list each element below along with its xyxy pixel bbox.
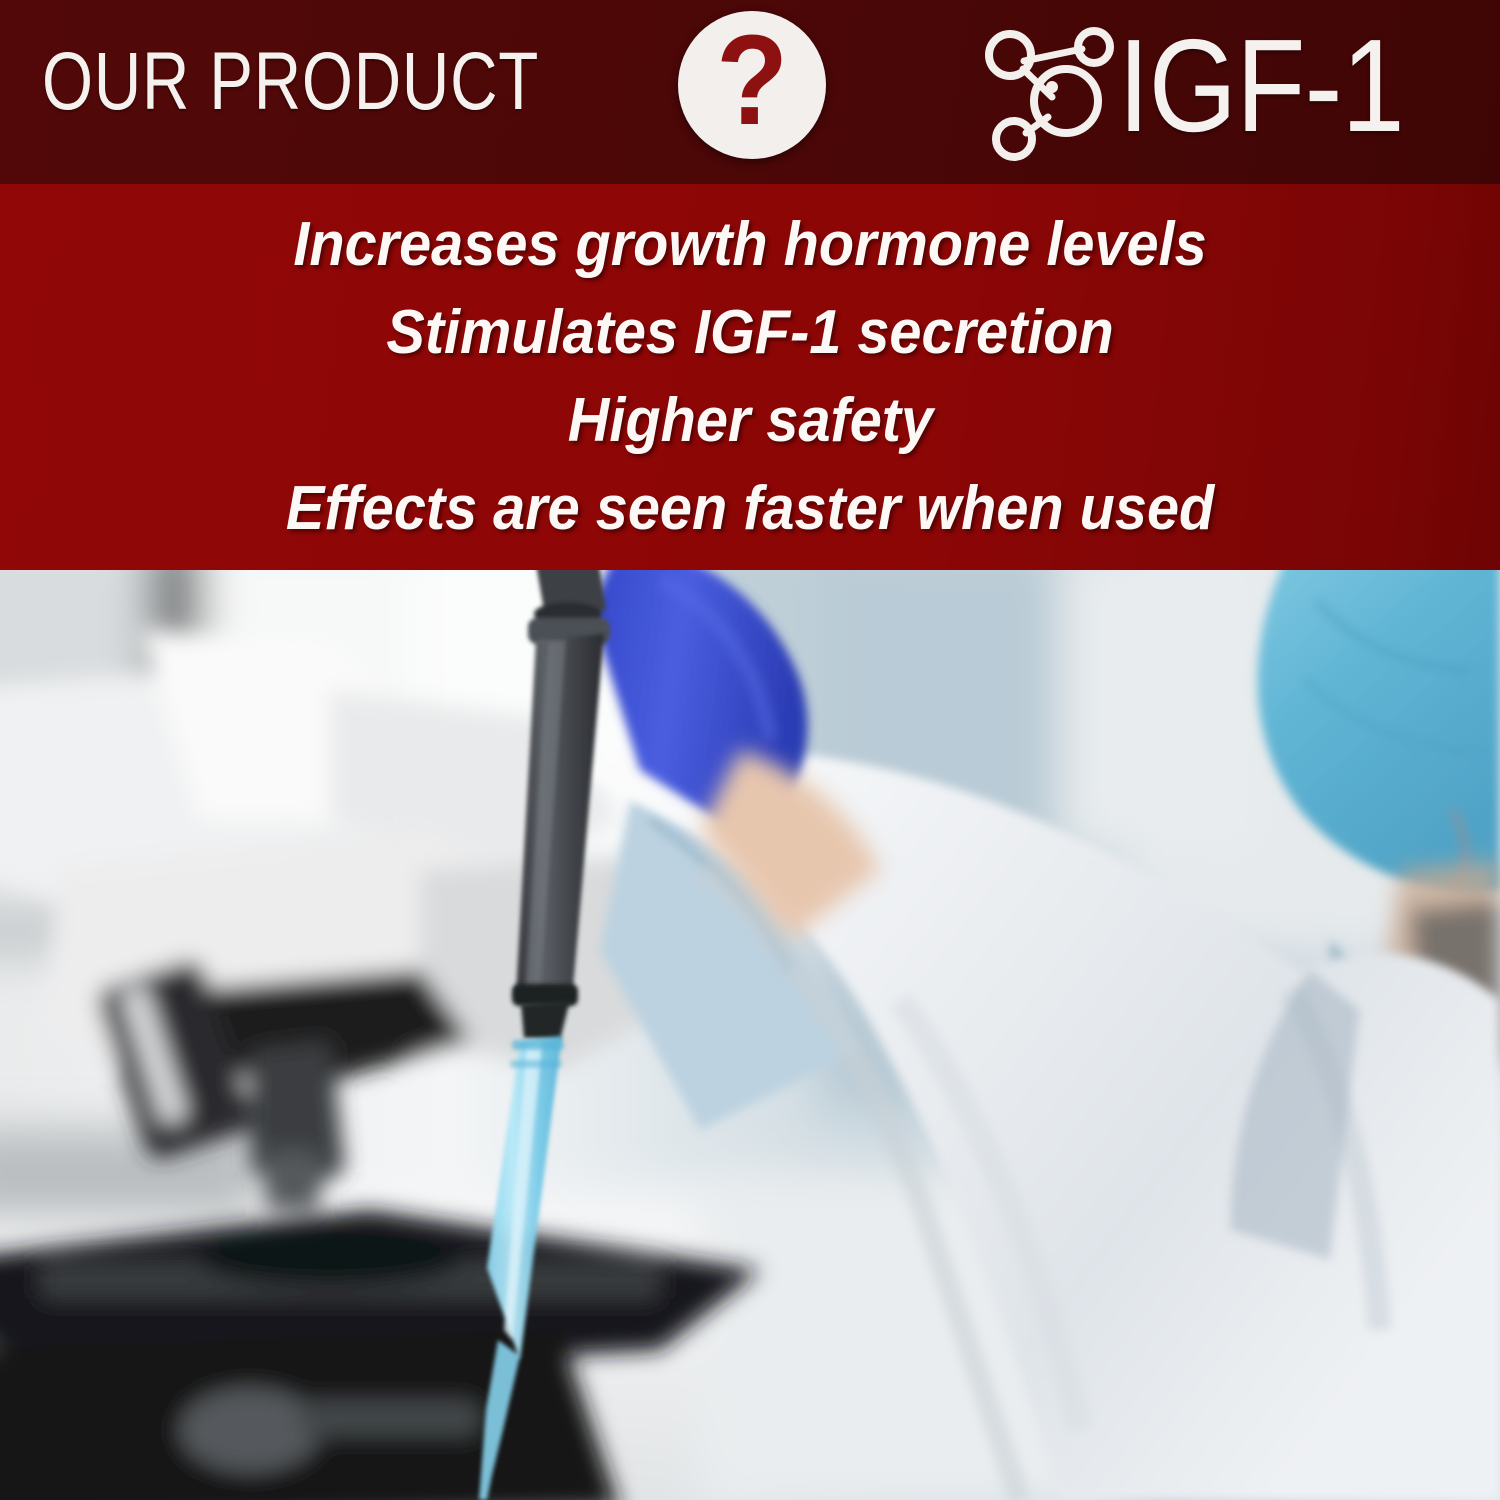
product-poster: OUR PRODUCT ? IGF-1 In (0, 0, 1500, 1500)
question-mark-glyph: ? (716, 17, 788, 145)
claim-line: Effects are seen faster when used (286, 465, 1214, 553)
claim-line: Higher safety (567, 377, 932, 465)
header-band: OUR PRODUCT ? IGF-1 (0, 0, 1500, 184)
laboratory-photo (0, 570, 1500, 1500)
product-label: IGF-1 (1118, 13, 1404, 159)
claims-band: Increases growth hormone levels Stimulat… (0, 184, 1500, 570)
molecule-icon (978, 17, 1124, 163)
claim-line: Stimulates IGF-1 secretion (386, 289, 1113, 377)
question-mark-icon: ? (678, 11, 826, 159)
claim-line: Increases growth hormone levels (293, 201, 1206, 289)
page-title: OUR PRODUCT (42, 34, 539, 130)
